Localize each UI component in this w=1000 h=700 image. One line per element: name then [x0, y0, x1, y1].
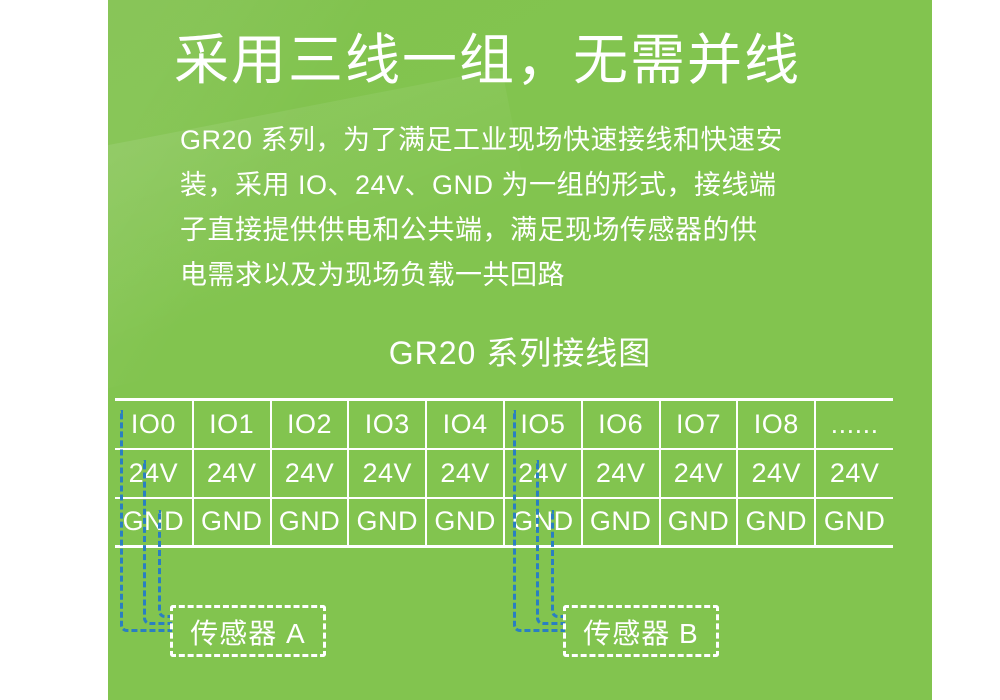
cell-gnd-5: GND [504, 498, 582, 547]
intro-line-3: 子直接提供供电和公共端，满足现场传感器的供 [180, 208, 870, 253]
cell-24v-1: 24V [193, 449, 271, 498]
cell-24v-3: 24V [348, 449, 426, 498]
wiring-terminal-table: IO0 IO1 IO2 IO3 IO4 IO5 IO6 IO7 IO8 ....… [115, 398, 893, 548]
table-row-24v: 24V 24V 24V 24V 24V 24V 24V 24V 24V 24V [115, 449, 893, 498]
sensor-a-label: 传感器 A [190, 618, 305, 649]
cell-24v-8: 24V [737, 449, 815, 498]
sensor-a-box: 传感器 A [170, 605, 326, 657]
green-content-panel: 采用三线一组，无需并线 GR20 系列，为了满足工业现场快速接线和快速安 装，采… [108, 0, 932, 700]
cell-24v-7: 24V [660, 449, 738, 498]
cell-gnd-1: GND [193, 498, 271, 547]
cell-24v-2: 24V [271, 449, 349, 498]
cell-gnd-0: GND [115, 498, 193, 547]
table-row-gnd: GND GND GND GND GND GND GND GND GND GND [115, 498, 893, 547]
cell-gnd-7: GND [660, 498, 738, 547]
cell-24v-0: 24V [115, 449, 193, 498]
cell-24v-more: 24V [815, 449, 893, 498]
cell-gnd-2: GND [271, 498, 349, 547]
cell-io-3: IO3 [348, 400, 426, 449]
wiring-diagram-title: GR20 系列接线图 [108, 332, 932, 374]
cell-io-more: ...... [815, 400, 893, 449]
sensor-b-box: 传感器 B [563, 605, 719, 657]
cell-io-4: IO4 [426, 400, 504, 449]
cell-gnd-6: GND [582, 498, 660, 547]
poster-page: 采用三线一组，无需并线 GR20 系列，为了满足工业现场快速接线和快速安 装，采… [0, 0, 1000, 700]
cell-24v-4: 24V [426, 449, 504, 498]
intro-line-4: 电需求以及为现场负载一共回路 [180, 253, 870, 298]
intro-paragraph: GR20 系列，为了满足工业现场快速接线和快速安 装，采用 IO、24V、GND… [180, 118, 870, 298]
cell-io-6: IO6 [582, 400, 660, 449]
cell-io-5: IO5 [504, 400, 582, 449]
cell-gnd-more: GND [815, 498, 893, 547]
cell-gnd-3: GND [348, 498, 426, 547]
cell-io-2: IO2 [271, 400, 349, 449]
intro-line-1: GR20 系列，为了满足工业现场快速接线和快速安 [180, 118, 870, 163]
table-row-io: IO0 IO1 IO2 IO3 IO4 IO5 IO6 IO7 IO8 ....… [115, 400, 893, 449]
intro-line-2: 装，采用 IO、24V、GND 为一组的形式，接线端 [180, 163, 870, 208]
cell-io-0: IO0 [115, 400, 193, 449]
page-headline: 采用三线一组，无需并线 [174, 28, 874, 92]
cell-24v-5: 24V [504, 449, 582, 498]
cell-gnd-8: GND [737, 498, 815, 547]
cell-io-7: IO7 [660, 400, 738, 449]
sensor-b-label: 传感器 B [583, 618, 698, 649]
cell-io-1: IO1 [193, 400, 271, 449]
cell-io-8: IO8 [737, 400, 815, 449]
cell-gnd-4: GND [426, 498, 504, 547]
cell-24v-6: 24V [582, 449, 660, 498]
